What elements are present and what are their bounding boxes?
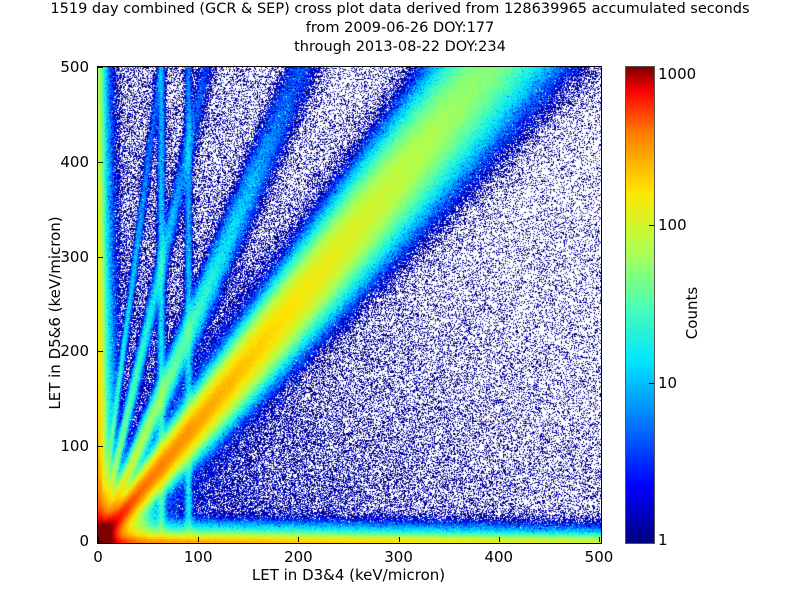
x-tick-label: 300 xyxy=(369,548,429,566)
colorbar xyxy=(625,66,655,544)
colorbar-gradient xyxy=(626,67,654,543)
x-tick-mark xyxy=(399,537,400,542)
chart-title: 1519 day combined (GCR & SEP) cross plot… xyxy=(0,0,800,57)
y-tick-label: 500 xyxy=(29,58,89,76)
x-tick-mark xyxy=(98,537,99,542)
colorbar-tick-label: 1000 xyxy=(658,65,696,83)
colorbar-tick-mark xyxy=(649,225,654,226)
y-tick-mark xyxy=(98,67,103,68)
colorbar-tick-label: 10 xyxy=(658,374,677,392)
density-scatter-plot xyxy=(98,67,601,543)
x-tick-label: 400 xyxy=(469,548,529,566)
y-axis-label: LET in D5&6 (keV/micron) xyxy=(46,148,64,478)
x-tick-label: 0 xyxy=(68,548,128,566)
x-axis-label: LET in D3&4 (keV/micron) xyxy=(97,566,600,584)
title-line-2: from 2009-06-26 DOY:177 xyxy=(0,19,800,38)
x-tick-mark xyxy=(198,537,199,542)
plot-area xyxy=(97,66,602,544)
y-tick-mark xyxy=(98,351,103,352)
figure-canvas: 1519 day combined (GCR & SEP) cross plot… xyxy=(0,0,800,600)
title-line-1: 1519 day combined (GCR & SEP) cross plot… xyxy=(0,0,800,19)
x-tick-mark xyxy=(298,537,299,542)
x-tick-mark xyxy=(499,537,500,542)
y-tick-mark xyxy=(98,446,103,447)
y-tick-mark xyxy=(98,162,103,163)
colorbar-tick-label: 1 xyxy=(658,531,668,549)
x-tick-label: 500 xyxy=(569,548,629,566)
x-tick-label: 200 xyxy=(268,548,328,566)
colorbar-label: Counts xyxy=(683,233,701,393)
colorbar-tick-mark xyxy=(649,383,654,384)
x-tick-mark xyxy=(599,537,600,542)
x-tick-label: 100 xyxy=(168,548,228,566)
colorbar-tick-label: 100 xyxy=(658,216,687,234)
title-line-3: through 2013-08-22 DOY:234 xyxy=(0,38,800,57)
y-tick-mark xyxy=(98,257,103,258)
